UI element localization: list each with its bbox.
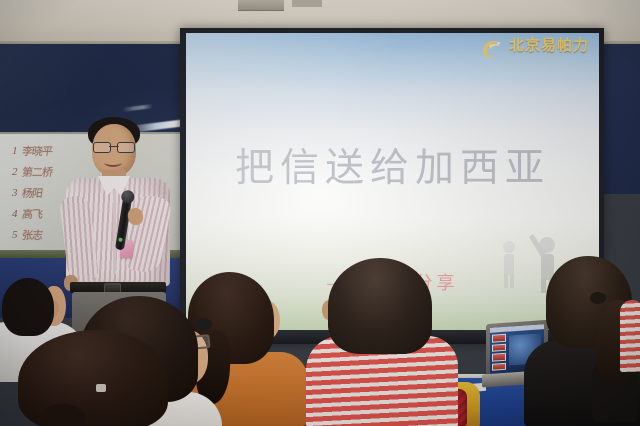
list-item-label: 第二桥 xyxy=(20,164,52,180)
company-logo-text: 北京易帕力 BEIJING YI PA LI xyxy=(509,38,589,59)
ceiling-vent-secondary-icon xyxy=(292,0,322,7)
list-item-number: 4 xyxy=(12,208,18,220)
list-item-number: 5 xyxy=(12,229,18,241)
laptop-titlebar xyxy=(490,324,544,333)
company-name-cn: 北京易帕力 xyxy=(509,38,589,53)
background-person-illustration-icon xyxy=(489,233,529,289)
company-name-en: BEIJING YI PA LI xyxy=(509,55,589,59)
list-item-label: 张志 xyxy=(20,227,42,243)
slide-thumbnail-strip xyxy=(492,334,506,371)
presentation-photo: 1 李晓平 2 第二桥 3 杨阳 4 高飞 5 张志 xyxy=(0,0,640,426)
wall-light-streak xyxy=(122,104,152,112)
list-item-number: 3 xyxy=(12,187,18,199)
list-item-number: 2 xyxy=(12,166,18,178)
right-wall-panel xyxy=(600,44,640,194)
slide-title: 把信送给加西亚 xyxy=(186,137,599,193)
ceiling-vent-icon xyxy=(238,0,284,11)
presenter-smile xyxy=(104,158,122,167)
list-item-number: 1 xyxy=(12,145,18,157)
list-item-label: 杨阳 xyxy=(20,185,42,201)
eyeglasses-icon xyxy=(93,142,135,151)
list-item-label: 高飞 xyxy=(20,206,42,222)
list-item-label: 李晓平 xyxy=(20,143,52,159)
company-logo: 北京易帕力 BEIJING YI PA LI xyxy=(480,37,589,59)
presenter xyxy=(58,112,178,312)
presenter-shirt-placket xyxy=(113,190,116,274)
gold-swoosh-emblem-icon xyxy=(480,37,504,59)
